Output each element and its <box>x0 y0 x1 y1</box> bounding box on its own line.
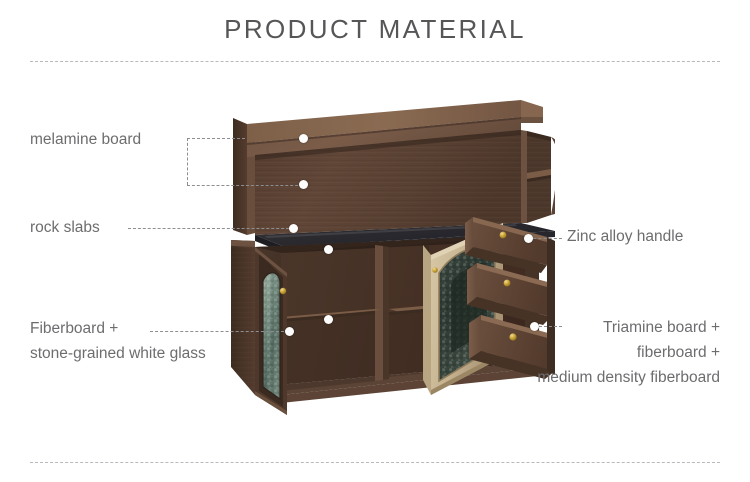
callout-line: medium density fiberboard <box>537 365 720 390</box>
leader-melamine-vertical <box>187 138 188 185</box>
product-illustration <box>225 95 555 415</box>
marker-dot-drawer-knob <box>524 234 533 243</box>
leader-zinc-handle <box>528 238 562 239</box>
callout-label-zinc-alloy-handle: Zinc alloy handle <box>567 225 683 248</box>
callout-label-melamine-board: melamine board <box>30 128 141 151</box>
callout-line: Fiberboard + <box>30 316 206 341</box>
leader-melamine-bottom <box>187 185 303 186</box>
callout-line: rock slabs <box>30 216 100 239</box>
divider-bottom <box>30 462 720 464</box>
marker-dot-left-glass-door <box>285 327 294 336</box>
page-title: PRODUCT MATERIAL <box>0 14 750 45</box>
callout-line: Zinc alloy handle <box>567 225 683 248</box>
callout-line: Triamine board + <box>537 315 720 340</box>
callout-label-fiberboard-glass: Fiberboard + stone-grained white glass <box>30 316 206 366</box>
cabinet-left-side-panel <box>231 240 255 395</box>
callout-line: stone-grained white glass <box>30 341 206 366</box>
callout-line: fiberboard + <box>537 340 720 365</box>
callout-line: melamine board <box>30 128 141 151</box>
product-material-infographic: PRODUCT MATERIAL <box>0 0 750 482</box>
marker-dot-shelf-lower <box>324 315 333 324</box>
callout-label-rock-slabs: rock slabs <box>30 216 100 239</box>
marker-dot-top-rail <box>299 134 308 143</box>
callout-label-triamine-board: Triamine board + fiberboard + medium den… <box>537 315 720 390</box>
marker-dot-shelf-upper <box>324 245 333 254</box>
hutch-right-compartment <box>521 100 555 223</box>
leader-rock-slabs <box>128 228 294 229</box>
divider-top <box>30 61 720 63</box>
marker-dot-back-panel <box>299 180 308 189</box>
marker-dot-countertop <box>289 224 298 233</box>
leader-melamine-top <box>187 138 245 139</box>
